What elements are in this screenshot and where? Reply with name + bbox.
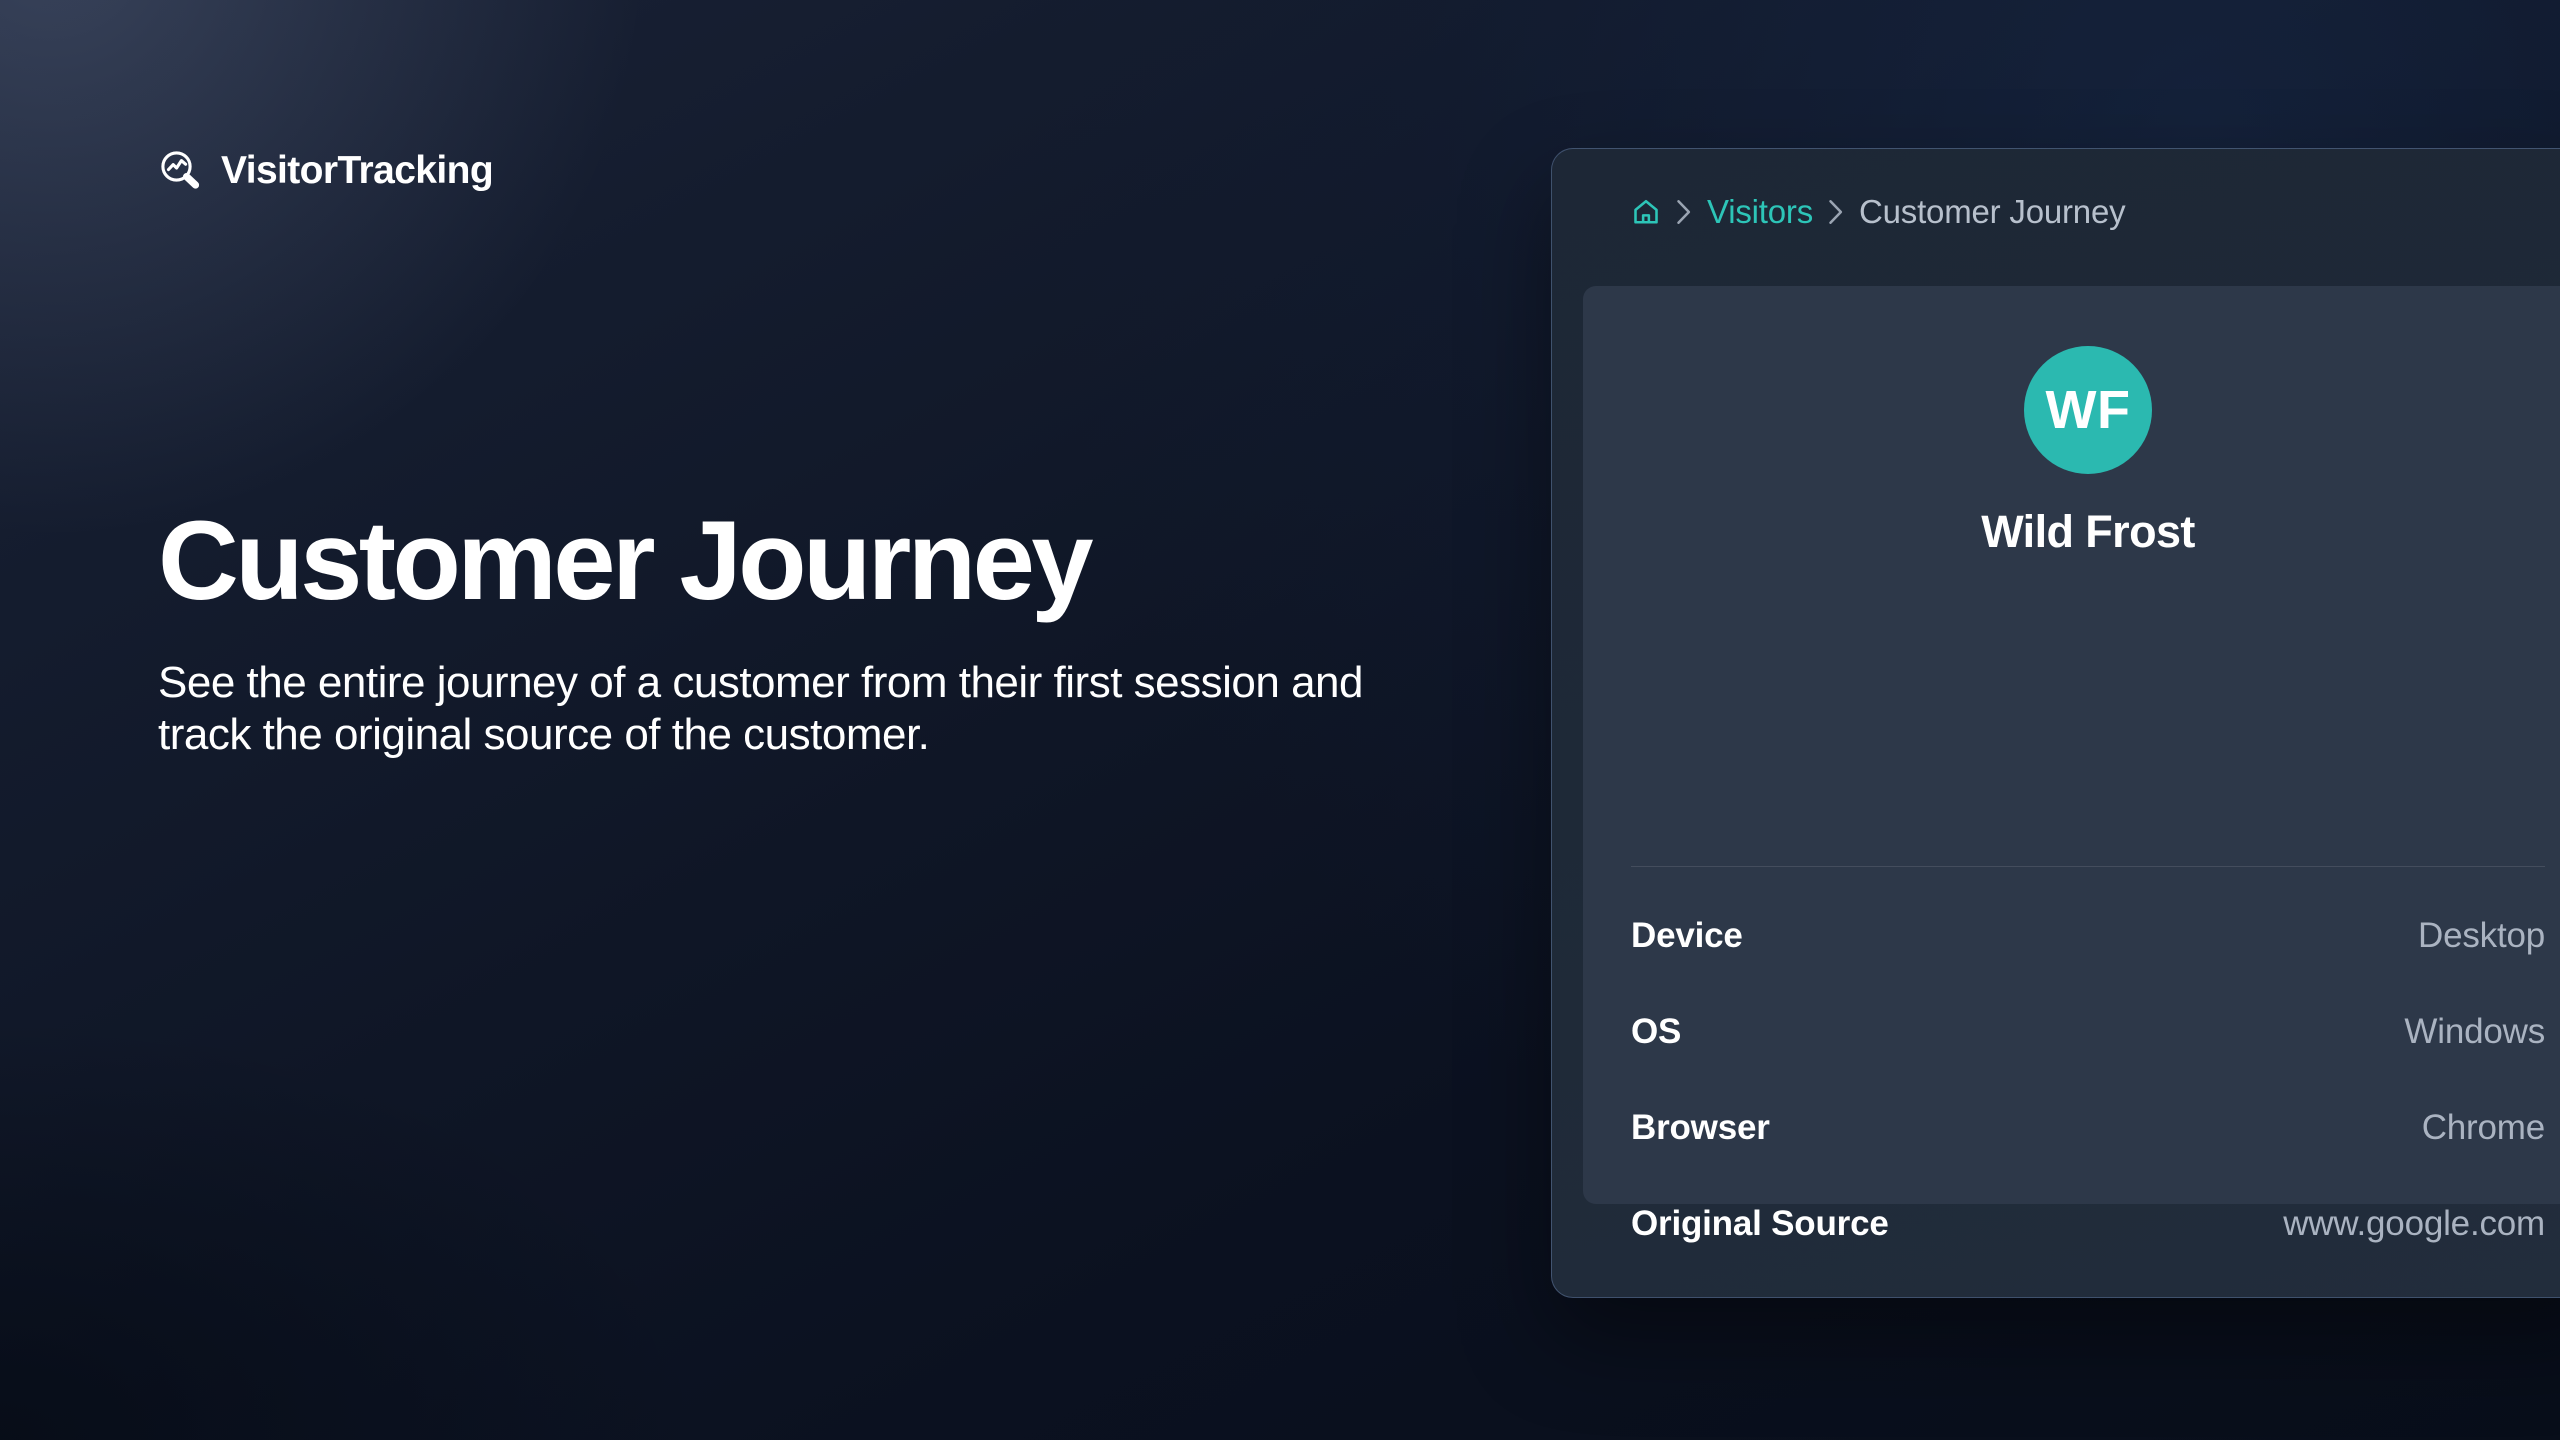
detail-label: Original Source	[1631, 1204, 1889, 1244]
hero-section: Customer Journey See the entire journey …	[158, 505, 1458, 761]
detail-value: Desktop	[2418, 916, 2545, 956]
detail-label: Browser	[1631, 1108, 1770, 1148]
magnifier-chart-icon	[158, 148, 202, 192]
avatar: WF	[2024, 346, 2152, 474]
detail-row-browser: Browser Chrome	[1583, 1108, 2560, 1204]
brand-name: VisitorTracking	[221, 151, 493, 190]
detail-value: www.google.com	[2283, 1204, 2545, 1244]
page-background: VisitorTracking Customer Journey See the…	[0, 0, 2560, 1440]
detail-row-device: Device Desktop	[1583, 916, 2560, 1012]
detail-row-original-source: Original Source www.google.com	[1583, 1204, 2560, 1298]
detail-label: OS	[1631, 1012, 1681, 1052]
breadcrumb-separator-2	[1813, 199, 1859, 225]
breadcrumb-item-customer-journey: Customer Journey	[1859, 193, 2125, 231]
brand-logo[interactable]: VisitorTracking	[158, 148, 493, 192]
chevron-right-icon	[1674, 199, 1694, 225]
visitor-name: Wild Frost	[1981, 506, 2195, 558]
visitor-detail-list: Device Desktop OS Windows Browser Chrome…	[1583, 916, 2560, 1298]
chevron-right-icon	[1826, 199, 1846, 225]
breadcrumb-separator-1	[1661, 199, 1707, 225]
card-divider	[1631, 866, 2545, 867]
breadcrumb-item-visitors[interactable]: Visitors	[1707, 193, 1813, 231]
home-icon	[1631, 197, 1661, 227]
app-preview-panel: Visitors Customer Journey WF Wild Frost …	[1551, 148, 2560, 1298]
detail-row-os: OS Windows	[1583, 1012, 2560, 1108]
detail-label: Device	[1631, 916, 1743, 956]
breadcrumb: Visitors Customer Journey	[1631, 189, 2125, 235]
breadcrumb-home-link[interactable]	[1631, 197, 1661, 227]
hero-description: See the entire journey of a customer fro…	[158, 657, 1403, 761]
page-title: Customer Journey	[158, 505, 1458, 617]
detail-value: Chrome	[2422, 1108, 2545, 1148]
visitor-profile-header: WF Wild Frost	[1583, 286, 2560, 558]
visitor-detail-card: WF Wild Frost Device Desktop OS Windows …	[1583, 286, 2560, 1204]
detail-value: Windows	[2404, 1012, 2545, 1052]
